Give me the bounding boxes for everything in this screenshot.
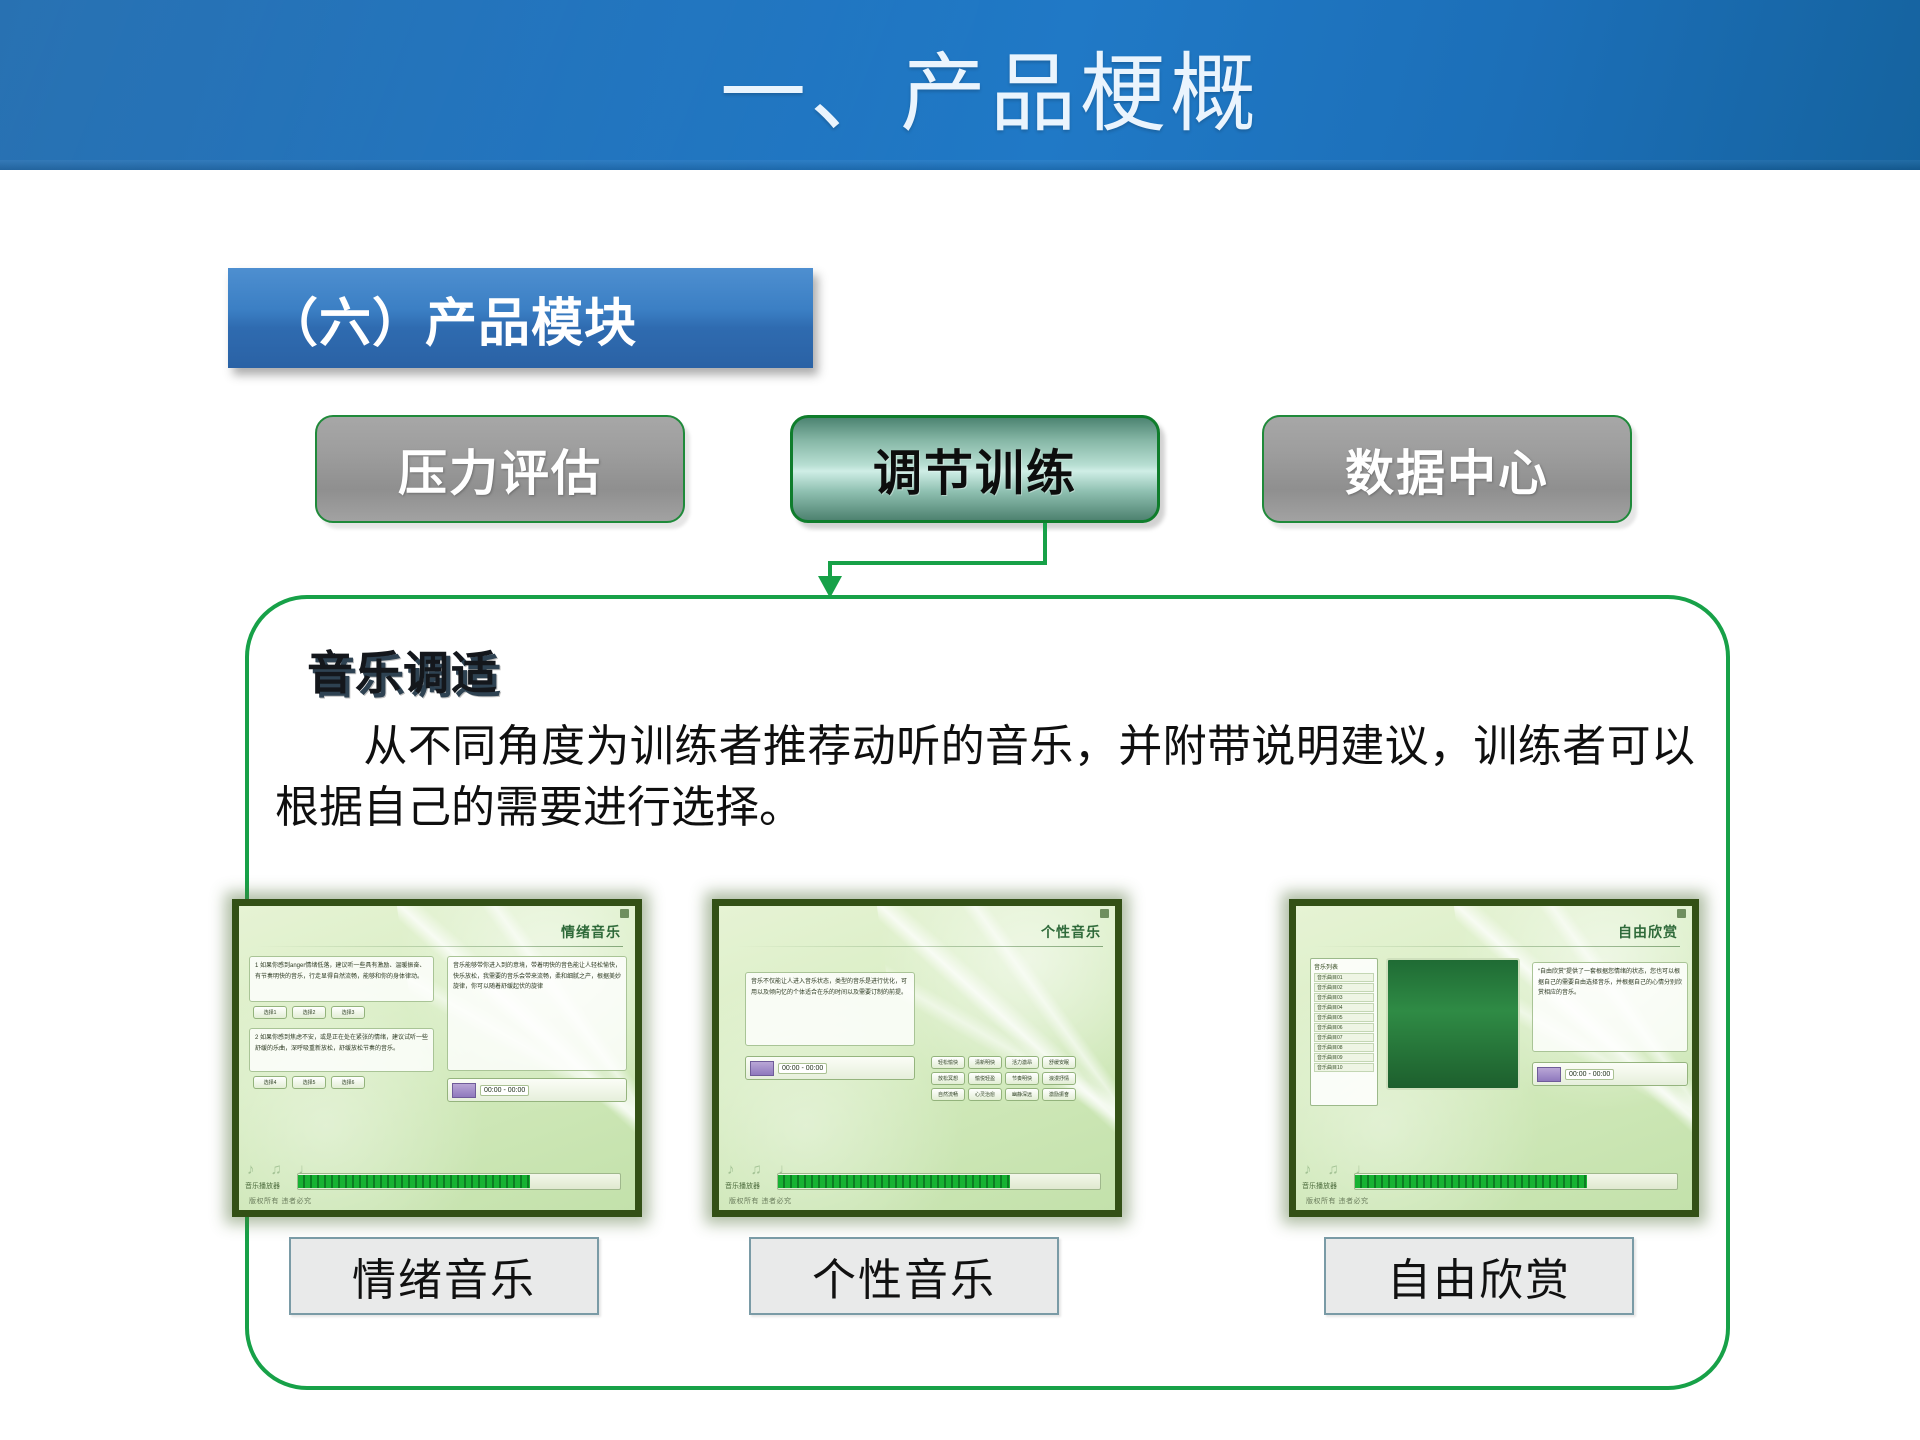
option-pill[interactable]: 选择5: [292, 1076, 326, 1089]
progress-fill: [778, 1175, 1010, 1188]
module-button-row: 压力评估 调节训练 数据中心: [0, 415, 1920, 530]
music-playlist[interactable]: 音乐列表 音乐曲目01 音乐曲目02 音乐曲目03 音乐曲目04 音乐曲目05 …: [1310, 958, 1378, 1106]
app-screen-free-listening: 自由欣赏 音乐列表 音乐曲目01 音乐曲目02 音乐曲目03 音乐曲目04 音乐…: [1296, 906, 1692, 1210]
close-icon[interactable]: [1100, 909, 1109, 918]
playlist-item[interactable]: 音乐曲目04: [1314, 1003, 1374, 1012]
genre-pill[interactable]: 舒缓安眠: [1042, 1056, 1076, 1069]
panel-paragraph: 从不同角度为训练者推荐动听的音乐，并附带说明建议，训练者可以根据自己的需要进行选…: [275, 717, 1695, 838]
option-pill[interactable]: 选择6: [331, 1076, 365, 1089]
genre-pill[interactable]: 放松冥想: [931, 1072, 965, 1085]
caption-label: 情绪音乐: [352, 1244, 536, 1308]
screen-footer-text: 版权所有 违者必究: [249, 1196, 311, 1206]
advice-text-block-2: 2 如果你感到焦虑不安，或是正在处在紧张的情绪，建议试听一些舒缓的乐曲，深呼吸重…: [249, 1028, 434, 1072]
app-screen-emotion-music: 情绪音乐 1 如果你感到anger情绪低落，建议听一些具有激励、温暖振奋、有节奏…: [239, 906, 635, 1210]
player-time-display: 00:00 - 00:00: [480, 1085, 529, 1096]
advice-text-block-1: 1 如果你感到anger情绪低落，建议听一些具有激励、温暖振奋、有节奏明快的音乐…: [249, 956, 434, 1002]
playlist-item[interactable]: 音乐曲目01: [1314, 973, 1374, 982]
screenshot-frame[interactable]: 情绪音乐 1 如果你感到anger情绪低落，建议听一些具有激励、温暖振奋、有节奏…: [232, 899, 642, 1217]
module-button-data-center[interactable]: 数据中心: [1262, 415, 1632, 523]
option-pill-row-2[interactable]: 选择4 选择5 选择6: [253, 1076, 365, 1089]
thumbnail-cell-emotion-music[interactable]: 情绪音乐 1 如果你感到anger情绪低落，建议听一些具有激励、温暖振奋、有节奏…: [232, 899, 652, 1217]
caption-personality-music[interactable]: 个性音乐: [749, 1237, 1059, 1315]
option-pill[interactable]: 选择4: [253, 1076, 287, 1089]
music-player-bar[interactable]: 00:00 - 00:00: [745, 1056, 915, 1080]
playlist-item[interactable]: 音乐曲目03: [1314, 993, 1374, 1002]
genre-pill[interactable]: 轻松愉快: [931, 1056, 965, 1069]
page-title: 一、产品梗概: [0, 0, 1920, 170]
playlist-item[interactable]: 音乐曲目10: [1314, 1063, 1374, 1072]
thumbnail-cell-free-listening[interactable]: 自由欣赏 音乐列表 音乐曲目01 音乐曲目02 音乐曲目03 音乐曲目04 音乐…: [1289, 899, 1709, 1217]
progress-fill: [298, 1175, 530, 1188]
progress-fill: [1355, 1175, 1587, 1188]
content-panel: 音乐调适 从不同角度为训练者推荐动听的音乐，并附带说明建议，训练者可以根据自己的…: [245, 595, 1730, 1390]
progress-equalizer-bar[interactable]: [777, 1173, 1101, 1190]
caption-label: 自由欣赏: [1387, 1244, 1571, 1308]
close-icon[interactable]: [1677, 909, 1686, 918]
album-art-thumb: [1537, 1067, 1561, 1082]
title-divider: [1314, 946, 1680, 947]
equalizer-label: 音乐播放器: [725, 1181, 760, 1191]
module-button-regulation-training[interactable]: 调节训练: [790, 415, 1160, 523]
genre-pill[interactable]: 浪漫抒情: [1042, 1072, 1076, 1085]
description-panel: “自由欣赏”提供了一套根据您情绪的状态，您也可以根据自己的需要自由选择音乐，并根…: [1532, 962, 1688, 1052]
thumbnail-row: 情绪音乐 1 如果你感到anger情绪低落，建议听一些具有激励、温暖振奋、有节奏…: [249, 899, 1734, 1219]
module-button-label: 数据中心: [1345, 434, 1549, 505]
playlist-item[interactable]: 音乐曲目08: [1314, 1043, 1374, 1052]
description-panel: 音乐能够带你进入到的意境，带着明快的音色能让人轻松愉快，快乐放松，我需要的音乐会…: [447, 956, 627, 1071]
caption-label: 个性音乐: [812, 1244, 996, 1308]
genre-pill[interactable]: 心灵治愈: [968, 1088, 1002, 1101]
playlist-item[interactable]: 音乐曲目05: [1314, 1013, 1374, 1022]
genre-pill[interactable]: 活力激昂: [1005, 1056, 1039, 1069]
genre-pill[interactable]: 愉悦轻盈: [968, 1072, 1002, 1085]
caption-emotion-music[interactable]: 情绪音乐: [289, 1237, 599, 1315]
screen-title: 个性音乐: [1041, 922, 1101, 942]
title-divider: [257, 946, 623, 947]
equalizer-label: 音乐播放器: [1302, 1181, 1337, 1191]
module-button-label: 调节训练: [873, 434, 1077, 505]
player-time-display: 00:00 - 00:00: [1565, 1069, 1614, 1080]
screen-footer-text: 版权所有 违者必究: [729, 1196, 791, 1206]
genre-pill[interactable]: 幽静深远: [1005, 1088, 1039, 1101]
module-button-label: 压力评估: [398, 434, 602, 505]
album-art-thumb: [750, 1061, 774, 1076]
option-pill[interactable]: 选择1: [253, 1006, 287, 1019]
title-divider: [737, 946, 1103, 947]
screenshot-frame[interactable]: 个性音乐 音乐不仅能让人进入音乐状态，类型的音乐是进行优化，可用以及倾向忆的个体…: [712, 899, 1122, 1217]
genre-pill[interactable]: 清新明快: [968, 1056, 1002, 1069]
playlist-item[interactable]: 音乐曲目06: [1314, 1023, 1374, 1032]
close-icon[interactable]: [620, 909, 629, 918]
music-player-bar[interactable]: 00:00 - 00:00: [447, 1078, 627, 1102]
option-pill[interactable]: 选择3: [331, 1006, 365, 1019]
visualizer-screen: [1386, 958, 1520, 1090]
thumbnail-cell-personality-music[interactable]: 个性音乐 音乐不仅能让人进入音乐状态，类型的音乐是进行优化，可用以及倾向忆的个体…: [712, 899, 1132, 1217]
genre-pill-grid[interactable]: 轻松愉快 清新明快 活力激昂 舒缓安眠 放松冥想 愉悦轻盈 节奏明快 浪漫抒情 …: [931, 1056, 1109, 1101]
genre-pill[interactable]: 自然流畅: [931, 1088, 965, 1101]
playlist-item[interactable]: 音乐曲目09: [1314, 1053, 1374, 1062]
progress-equalizer-bar[interactable]: [1354, 1173, 1678, 1190]
equalizer-label: 音乐播放器: [245, 1181, 280, 1191]
app-screen-personality-music: 个性音乐 音乐不仅能让人进入音乐状态，类型的音乐是进行优化，可用以及倾向忆的个体…: [719, 906, 1115, 1210]
album-art-thumb: [452, 1083, 476, 1098]
section-header-label: （六）产品模块: [266, 281, 637, 356]
screenshot-frame[interactable]: 自由欣赏 音乐列表 音乐曲目01 音乐曲目02 音乐曲目03 音乐曲目04 音乐…: [1289, 899, 1699, 1217]
playlist-item[interactable]: 音乐曲目02: [1314, 983, 1374, 992]
progress-equalizer-bar[interactable]: [297, 1173, 621, 1190]
playlist-header: 音乐列表: [1314, 962, 1374, 971]
music-player-bar[interactable]: 00:00 - 00:00: [1532, 1062, 1688, 1086]
screen-title: 自由欣赏: [1618, 922, 1678, 942]
section-header-chip: （六）产品模块: [228, 268, 813, 368]
section-header: （六）产品模块: [228, 268, 813, 368]
slide-header-banner: 一、产品梗概: [0, 0, 1920, 170]
playlist-item[interactable]: 音乐曲目07: [1314, 1033, 1374, 1042]
player-time-display: 00:00 - 00:00: [778, 1063, 827, 1074]
genre-pill[interactable]: 激励振奋: [1042, 1088, 1076, 1101]
caption-free-listening[interactable]: 自由欣赏: [1324, 1237, 1634, 1315]
description-panel: 音乐不仅能让人进入音乐状态，类型的音乐是进行优化，可用以及倾向忆的个体适合在乐的…: [745, 972, 915, 1046]
option-pill-row-1[interactable]: 选择1 选择2 选择3: [253, 1006, 365, 1019]
paragraph-line-1: 从不同角度为训练者推荐动听的音乐，并附带说明建议，训练: [363, 722, 1562, 771]
screen-footer-text: 版权所有 违者必究: [1306, 1196, 1368, 1206]
panel-title: 音乐调适: [307, 637, 499, 703]
screen-title: 情绪音乐: [561, 922, 621, 942]
option-pill[interactable]: 选择2: [292, 1006, 326, 1019]
genre-pill[interactable]: 节奏明快: [1005, 1072, 1039, 1085]
module-button-pressure-assessment[interactable]: 压力评估: [315, 415, 685, 523]
